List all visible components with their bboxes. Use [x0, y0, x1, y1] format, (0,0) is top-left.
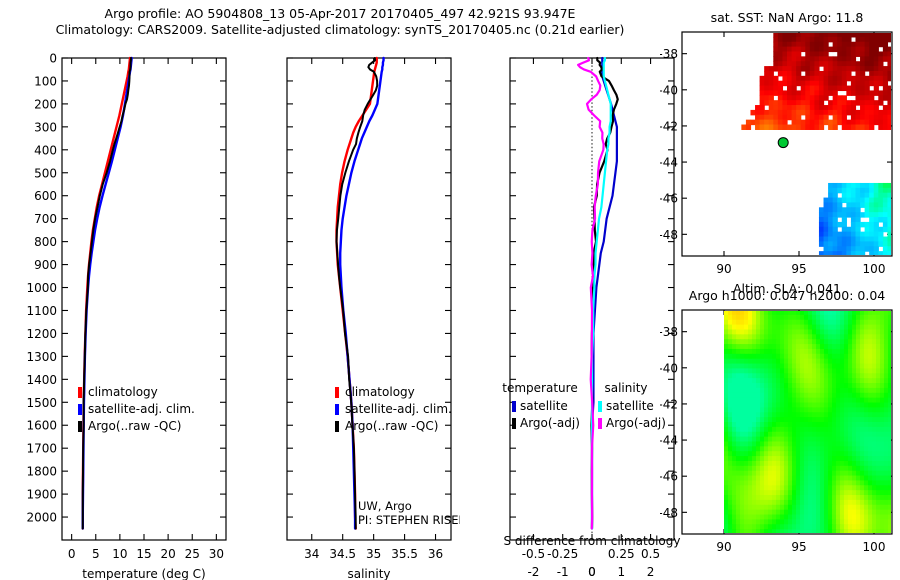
- sst-cell: [869, 207, 874, 212]
- sla-cell: [792, 393, 797, 398]
- sla-cell: [884, 407, 889, 412]
- sst-cell: [792, 42, 797, 47]
- sst-cell: [851, 237, 856, 242]
- sla-cell: [764, 417, 769, 422]
- sla-cell: [816, 407, 821, 412]
- sla-cell: [804, 471, 809, 476]
- sla-cell: [776, 403, 781, 408]
- sla-cell: [852, 339, 857, 344]
- sla-cell: [872, 315, 877, 320]
- sla-cell: [772, 471, 777, 476]
- sla-cell: [804, 515, 809, 520]
- sla-cell: [760, 393, 765, 398]
- sla-cell: [800, 349, 805, 354]
- sla-cell: [820, 422, 825, 427]
- sla-cell: [872, 500, 877, 505]
- sla-cell: [796, 515, 801, 520]
- sla-cell: [792, 334, 797, 339]
- sst-cell: [796, 110, 801, 115]
- sst-cell: [805, 110, 810, 115]
- sla-cell: [784, 510, 789, 515]
- svg-text:-42: -42: [660, 397, 678, 411]
- sst-cell: [796, 66, 801, 71]
- sst-cell: [865, 66, 870, 71]
- sst-cell: [828, 183, 833, 188]
- sla-cell: [816, 519, 821, 524]
- sla-cell: [776, 437, 781, 442]
- sst-cell: [883, 183, 888, 188]
- sla-cell: [832, 310, 837, 315]
- sla-cell: [820, 471, 825, 476]
- sla-cell: [816, 476, 821, 481]
- sla-cell: [852, 344, 857, 349]
- sla-cell: [856, 315, 861, 320]
- sst-cell: [755, 120, 760, 125]
- sla-cell: [796, 339, 801, 344]
- sla-cell: [768, 432, 773, 437]
- sla-cell: [744, 383, 749, 388]
- sla-cell: [876, 519, 881, 524]
- sst-cell: [778, 115, 783, 120]
- sla-cell: [792, 325, 797, 330]
- sla-cell: [828, 320, 833, 325]
- sla-cell: [800, 398, 805, 403]
- sla-cell: [876, 403, 881, 408]
- sst-cell: [796, 90, 801, 95]
- sla-cell: [808, 349, 813, 354]
- sla-cell: [840, 329, 845, 334]
- sla-cell: [812, 519, 817, 524]
- sla-cell: [864, 461, 869, 466]
- sst-cell: [782, 47, 787, 52]
- sla-cell: [756, 354, 761, 359]
- sla-cell: [840, 500, 845, 505]
- sla-cell: [792, 515, 797, 520]
- sst-cell: [778, 56, 783, 61]
- sst-cell: [878, 115, 883, 120]
- sla-cell: [824, 398, 829, 403]
- sst-cell: [883, 217, 888, 222]
- sla-cell: [752, 344, 757, 349]
- sla-cell: [872, 446, 877, 451]
- sla-cell: [804, 524, 809, 529]
- sla-cell: [860, 500, 865, 505]
- sst-cell: [855, 241, 860, 246]
- sla-cell: [856, 407, 861, 412]
- sst-cell: [814, 115, 819, 120]
- sla-cell: [808, 422, 813, 427]
- sst-cell: [851, 105, 856, 110]
- sla-cell: [784, 388, 789, 393]
- sla-cell: [780, 398, 785, 403]
- sst-cell: [833, 222, 838, 227]
- sst-cell: [842, 222, 847, 227]
- sla-cell: [776, 398, 781, 403]
- sla-cell: [876, 456, 881, 461]
- sst-cell: [819, 86, 824, 91]
- sst-cell: [869, 100, 874, 105]
- sst-cell: [855, 32, 860, 37]
- sla-cell: [756, 480, 761, 485]
- sla-cell: [780, 515, 785, 520]
- sla-cell: [828, 485, 833, 490]
- sst-cell: [787, 100, 792, 105]
- sla-cell: [788, 403, 793, 408]
- sla-cell: [780, 422, 785, 427]
- sla-cell: [796, 359, 801, 364]
- sla-cell: [740, 403, 745, 408]
- sla-cell: [812, 339, 817, 344]
- svg-text:salinity: salinity: [604, 381, 647, 395]
- sst-cell: [883, 110, 888, 115]
- sla-cell: [744, 500, 749, 505]
- sla-cell: [728, 461, 733, 466]
- sla-cell: [772, 368, 777, 373]
- sst-cell: [860, 125, 865, 130]
- sla-cell: [880, 427, 885, 432]
- sla-cell: [800, 490, 805, 495]
- sst-cell: [860, 47, 865, 52]
- sla-cell: [788, 329, 793, 334]
- sla-cell: [744, 495, 749, 500]
- sla-cell: [768, 505, 773, 510]
- svg-text:100: 100: [863, 262, 886, 276]
- sla-cell: [816, 510, 821, 515]
- sla-cell: [832, 383, 837, 388]
- sla-cell: [772, 432, 777, 437]
- sst-cell: [837, 246, 842, 251]
- sla-cell: [808, 466, 813, 471]
- sla-cell: [856, 432, 861, 437]
- sst-cell: [773, 120, 778, 125]
- sst-cell: [883, 90, 888, 95]
- sst-cell: [851, 56, 856, 61]
- sst-cell: [819, 241, 824, 246]
- sst-cell: [833, 207, 838, 212]
- sst-cell: [824, 61, 829, 66]
- sst-cell: [851, 66, 856, 71]
- sla-cell: [800, 364, 805, 369]
- sla-cell: [768, 325, 773, 330]
- sst-cell: [874, 232, 879, 237]
- sla-cell: [816, 500, 821, 505]
- sla-cell: [836, 383, 841, 388]
- sla-cell: [772, 476, 777, 481]
- sla-cell: [800, 354, 805, 359]
- sst-cell: [801, 110, 806, 115]
- sla-cell: [856, 515, 861, 520]
- sla-cell: [824, 344, 829, 349]
- sla-cell: [828, 344, 833, 349]
- sla-cell: [876, 515, 881, 520]
- svg-text:satellite: satellite: [520, 399, 568, 413]
- sst-cell: [837, 237, 842, 242]
- sst-cell: [805, 47, 810, 52]
- sst-cell: [778, 37, 783, 42]
- sst-cell: [814, 37, 819, 42]
- sla-cell: [836, 510, 841, 515]
- sla-cell: [884, 359, 889, 364]
- sla-cell: [740, 320, 745, 325]
- sla-cell: [884, 339, 889, 344]
- sst-cell: [874, 183, 879, 188]
- sst-cell: [851, 47, 856, 52]
- sla-cell: [824, 407, 829, 412]
- sla-cell: [848, 407, 853, 412]
- sla-cell: [820, 446, 825, 451]
- sst-cell: [810, 86, 815, 91]
- sla-cell: [868, 500, 873, 505]
- sla-cell: [724, 320, 729, 325]
- sla-cell: [808, 451, 813, 456]
- sst-cell: [819, 81, 824, 86]
- sla-cell: [864, 412, 869, 417]
- sst-cell: [746, 120, 751, 125]
- sla-cell: [840, 388, 845, 393]
- sla-cell: [808, 524, 813, 529]
- sla-cell: [740, 456, 745, 461]
- sla-cell: [724, 466, 729, 471]
- sla-cell: [756, 339, 761, 344]
- sla-cell: [884, 456, 889, 461]
- sla-cell: [864, 476, 869, 481]
- sla-cell: [732, 461, 737, 466]
- sla-cell: [728, 373, 733, 378]
- sla-cell: [872, 505, 877, 510]
- sla-cell: [780, 329, 785, 334]
- sla-cell: [872, 461, 877, 466]
- sla-cell: [800, 310, 805, 315]
- sla-cell: [808, 315, 813, 320]
- sla-cell: [804, 456, 809, 461]
- sla-cell: [880, 476, 885, 481]
- sla-cell: [840, 378, 845, 383]
- sst-cell: [773, 51, 778, 56]
- sla-cell: [812, 407, 817, 412]
- sla-cell: [832, 476, 837, 481]
- sla-cell: [724, 388, 729, 393]
- sla-cell: [732, 412, 737, 417]
- sla-cell: [756, 383, 761, 388]
- sst-cell: [819, 51, 824, 56]
- sla-cell: [756, 451, 761, 456]
- sla-cell: [740, 315, 745, 320]
- sla-cell: [796, 490, 801, 495]
- sla-cell: [876, 495, 881, 500]
- sst-cell: [773, 110, 778, 115]
- sla-cell: [740, 398, 745, 403]
- sst-cell: [869, 237, 874, 242]
- sst-cell: [760, 125, 765, 130]
- sla-cell: [800, 480, 805, 485]
- sla-cell: [884, 510, 889, 515]
- sla-cell: [772, 315, 777, 320]
- title-line-2: Climatology: CARS2009. Satellite-adjuste…: [0, 22, 680, 37]
- sla-cell: [804, 388, 809, 393]
- sla-cell: [860, 344, 865, 349]
- sla-cell: [780, 466, 785, 471]
- sst-cell: [883, 212, 888, 217]
- sla-cell: [832, 349, 837, 354]
- sla-cell: [748, 466, 753, 471]
- sst-cell: [828, 37, 833, 42]
- sla-cell: [848, 320, 853, 325]
- sla-cell: [876, 383, 881, 388]
- sla-cell: [828, 359, 833, 364]
- sla-cell: [848, 315, 853, 320]
- sla-cell: [816, 368, 821, 373]
- sla-cell: [764, 339, 769, 344]
- sla-cell: [776, 441, 781, 446]
- sla-cell: [772, 505, 777, 510]
- sla-cell: [724, 378, 729, 383]
- sla-cell: [764, 456, 769, 461]
- sla-cell: [756, 461, 761, 466]
- sst-cell: [792, 95, 797, 100]
- sla-cell: [816, 490, 821, 495]
- sla-cell: [740, 461, 745, 466]
- sst-cell: [792, 120, 797, 125]
- sla-cell: [732, 490, 737, 495]
- sst-cell: [769, 105, 774, 110]
- sla-cell: [736, 368, 741, 373]
- sla-cell: [864, 437, 869, 442]
- sla-cell: [820, 403, 825, 408]
- sla-cell: [852, 368, 857, 373]
- sla-cell: [824, 359, 829, 364]
- sla-cell: [756, 446, 761, 451]
- sla-cell: [756, 329, 761, 334]
- sla-cell: [776, 524, 781, 529]
- sst-cell: [792, 61, 797, 66]
- sla-cell: [776, 388, 781, 393]
- sst-cell: [851, 110, 856, 115]
- sla-cell: [812, 393, 817, 398]
- sla-cell: [724, 359, 729, 364]
- sla-cell: [736, 427, 741, 432]
- sla-cell: [820, 495, 825, 500]
- sst-cell: [828, 90, 833, 95]
- sla-cell: [796, 480, 801, 485]
- sla-cell: [772, 441, 777, 446]
- sla-cell: [860, 334, 865, 339]
- sla-cell: [772, 393, 777, 398]
- sla-cell: [724, 329, 729, 334]
- sst-cell: [805, 125, 810, 130]
- sla-cell: [856, 393, 861, 398]
- sla-cell: [868, 427, 873, 432]
- sst-cell: [883, 47, 888, 52]
- sla-cell: [748, 427, 753, 432]
- sla-cell: [884, 315, 889, 320]
- sla-cell: [744, 393, 749, 398]
- sst-cell: [805, 105, 810, 110]
- sla-cell: [796, 403, 801, 408]
- sla-cell: [856, 334, 861, 339]
- sla-cell: [824, 480, 829, 485]
- sst-cell: [837, 222, 842, 227]
- sla-cell: [844, 485, 849, 490]
- sla-cell: [728, 344, 733, 349]
- sst-cell: [855, 47, 860, 52]
- sst-cell: [883, 86, 888, 91]
- sla-cell: [744, 446, 749, 451]
- sst-cell: [865, 202, 870, 207]
- sla-cell: [884, 383, 889, 388]
- sla-cell: [776, 368, 781, 373]
- sst-cell: [805, 90, 810, 95]
- sst-cell: [837, 207, 842, 212]
- sla-cell: [728, 441, 733, 446]
- sla-cell: [772, 490, 777, 495]
- sla-cell: [804, 383, 809, 388]
- sla-cell: [872, 476, 877, 481]
- sla-cell: [816, 320, 821, 325]
- sst-cell: [814, 56, 819, 61]
- sla-cell: [800, 344, 805, 349]
- sla-cell: [820, 354, 825, 359]
- sla-cell: [772, 510, 777, 515]
- sla-cell: [760, 451, 765, 456]
- sla-cell: [752, 456, 757, 461]
- sla-cell: [808, 329, 813, 334]
- sla-cell: [752, 515, 757, 520]
- sla-cell: [780, 354, 785, 359]
- sst-cell: [778, 86, 783, 91]
- sst-cell: [842, 125, 847, 130]
- sla-cell: [852, 403, 857, 408]
- sst-cell: [801, 86, 806, 91]
- sla-cell: [756, 437, 761, 442]
- sla-cell: [784, 427, 789, 432]
- sla-cell: [808, 485, 813, 490]
- sla-cell: [808, 339, 813, 344]
- sla-cell: [732, 480, 737, 485]
- sst-cell: [814, 81, 819, 86]
- sla-cell: [872, 344, 877, 349]
- sst-cell: [855, 95, 860, 100]
- sst-cell: [769, 110, 774, 115]
- sla-cell: [744, 344, 749, 349]
- sla-cell: [788, 432, 793, 437]
- sla-cell: [728, 432, 733, 437]
- sst-cell: [869, 198, 874, 203]
- sla-cell: [796, 510, 801, 515]
- sla-cell: [804, 485, 809, 490]
- sla-cell: [724, 422, 729, 427]
- profile-line: [340, 58, 383, 529]
- sla-cell: [776, 505, 781, 510]
- sla-cell: [732, 466, 737, 471]
- sla-cell: [864, 446, 869, 451]
- sla-cell: [776, 480, 781, 485]
- sla-cell: [864, 510, 869, 515]
- sla-cell: [804, 359, 809, 364]
- sla-cell: [828, 422, 833, 427]
- sst-cell: [833, 105, 838, 110]
- sla-cell: [736, 446, 741, 451]
- sst-cell: [846, 61, 851, 66]
- sla-cell: [796, 334, 801, 339]
- sla-cell: [824, 505, 829, 510]
- sst-cell: [764, 86, 769, 91]
- svg-text:34.5: 34.5: [329, 547, 356, 561]
- sst-cell: [851, 81, 856, 86]
- sla-cell: [800, 359, 805, 364]
- sst-cell: [787, 95, 792, 100]
- sla-cell: [796, 485, 801, 490]
- sst-cell: [865, 193, 870, 198]
